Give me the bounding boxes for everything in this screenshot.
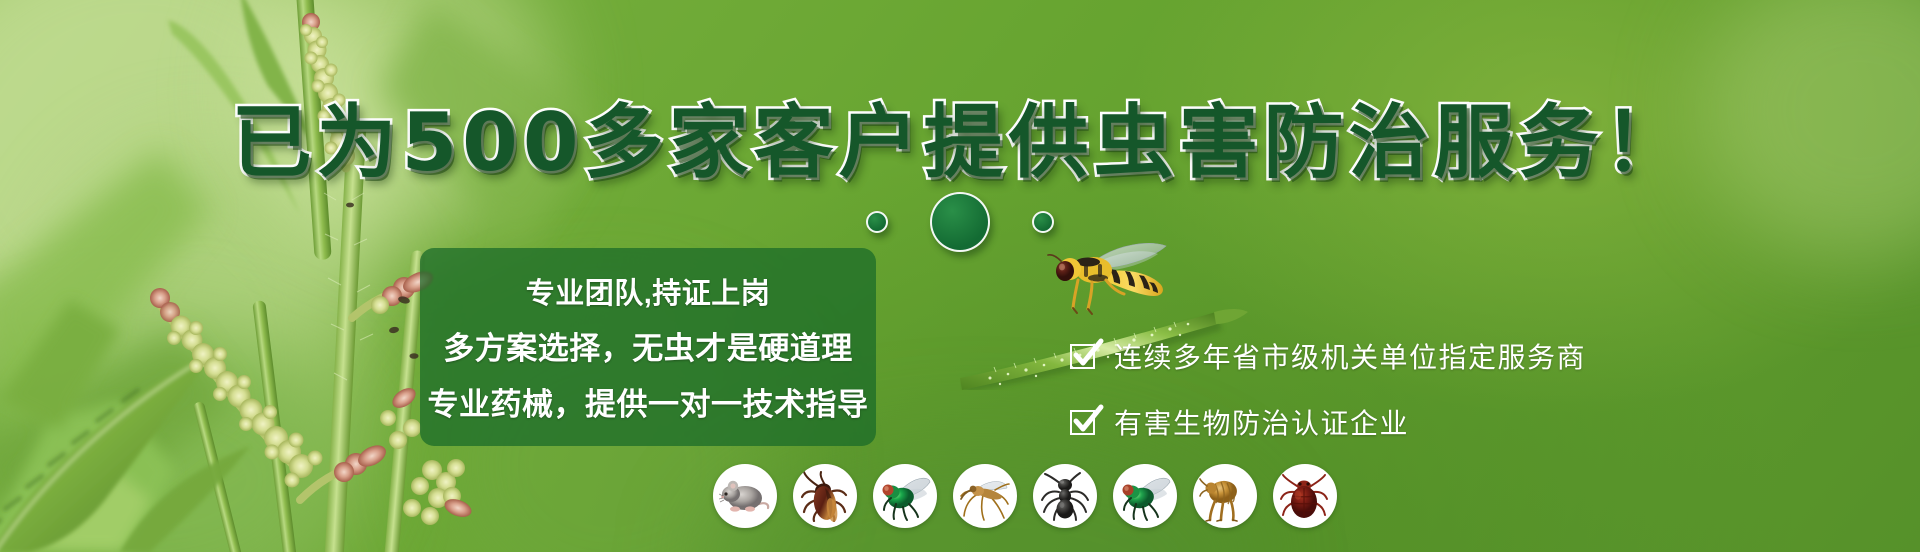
- slogan-line-2: 多方案选择，无虫才是硬道理: [443, 323, 853, 368]
- checklist-label: 连续多年省市级机关单位指定服务商: [1114, 336, 1586, 376]
- ant-icon[interactable]: [1033, 464, 1097, 528]
- checklist-item: 有害生物防治认证企业: [1070, 402, 1586, 442]
- dot-small-right: [1032, 211, 1054, 233]
- greenbottle-fly-icon[interactable]: [873, 464, 937, 528]
- slogan-line-3: 专业药械，提供一对一技术指导: [428, 379, 869, 424]
- banner-headline: 已为500多家客户提供虫害防治服务！: [0, 78, 1920, 194]
- dot-small-left: [866, 211, 888, 233]
- flea-icon[interactable]: [1193, 464, 1257, 528]
- housefly-icon[interactable]: [1113, 464, 1177, 528]
- headline-text: 已为500多家客户提供虫害防治服务！: [232, 78, 1689, 194]
- checkbox-checked-icon: [1070, 341, 1100, 371]
- credentials-checklist: 连续多年省市级机关单位指定服务商 有害生物防治认证企业: [1070, 336, 1586, 442]
- mouse-icon[interactable]: [713, 464, 777, 528]
- pest-icon-row: [0, 464, 1920, 528]
- checklist-label: 有害生物防治认证企业: [1114, 402, 1409, 442]
- checklist-item: 连续多年省市级机关单位指定服务商: [1070, 336, 1586, 376]
- dot-large-center: [930, 192, 990, 252]
- decorative-dot-group: [0, 192, 1920, 252]
- pest-control-banner: 已为500多家客户提供虫害防治服务！ 专业团队,持证上岗 多方案选择，无虫才是硬…: [0, 0, 1920, 552]
- bedbug-icon[interactable]: [1273, 464, 1337, 528]
- mosquito-icon[interactable]: [953, 464, 1017, 528]
- cockroach-icon[interactable]: [793, 464, 857, 528]
- slogan-line-1: 专业团队,持证上岗: [526, 270, 771, 312]
- slogan-panel: 专业团队,持证上岗 多方案选择，无虫才是硬道理 专业药械，提供一对一技术指导: [420, 248, 876, 446]
- checkbox-checked-icon: [1070, 407, 1100, 437]
